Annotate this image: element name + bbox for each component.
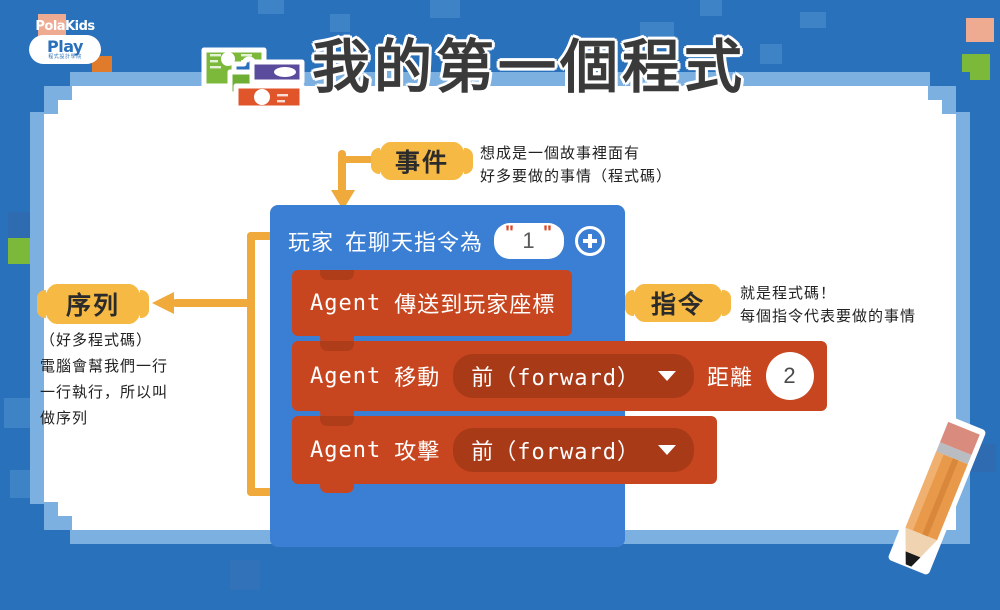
poster-canvas: PolaKids Play 程式設計學院 我的第一個程式 <box>0 0 1000 610</box>
decor-pixel <box>8 212 30 238</box>
command-block-teleport[interactable]: Agent 傳送到玩家座標 <box>292 270 572 336</box>
command-block-attack[interactable]: Agent 攻擊 前（forward） <box>292 416 717 484</box>
direction-dropdown-value: 前（forward） <box>471 434 640 466</box>
decor-pixel <box>800 12 826 28</box>
distance-input[interactable]: 2 <box>766 352 814 400</box>
note-command: 就是程式碼！ 每個指令代表要做的事情 <box>740 282 1000 328</box>
paper-corner-step <box>44 86 58 114</box>
command-actor: Agent <box>310 438 381 463</box>
sequence-arrow-left-icon <box>152 292 174 314</box>
decor-pixel <box>700 0 722 16</box>
decor-pixel <box>258 0 284 14</box>
event-actor: 玩家 <box>288 225 334 257</box>
brand-logo-main: Play <box>47 39 83 54</box>
quote-left: " <box>505 223 515 245</box>
decor-pixel-salmon <box>966 18 994 42</box>
note-sequence: （好多程式碼） 電腦會幫我們一行 一行執行，所以叫 做序列 <box>40 328 270 432</box>
command-action: 攻擊 <box>394 434 440 466</box>
brand-logo-pill: Play 程式設計學院 <box>29 35 101 64</box>
chat-command-value: 1 <box>522 228 535 254</box>
chevron-down-icon <box>658 445 676 455</box>
direction-dropdown-move[interactable]: 前（forward） <box>453 354 694 398</box>
paper-corner-step <box>942 86 956 114</box>
command-action: 移動 <box>394 360 440 392</box>
tag-event: 事件 <box>378 142 466 180</box>
event-block-row: 玩家 在聊天指令為 " 1 " <box>288 223 605 259</box>
chat-command-input[interactable]: " 1 " <box>494 223 564 259</box>
sequence-connector-horizontal <box>172 299 254 307</box>
decor-pixel <box>230 560 260 590</box>
decor-pixel <box>330 14 350 32</box>
event-block-footer <box>270 505 625 547</box>
brand-logo-top: PolaKids <box>22 20 108 34</box>
decor-pixel <box>430 0 460 18</box>
page-title: 我的第一個程式 <box>312 36 746 100</box>
paper-corner-step <box>44 502 58 530</box>
chevron-down-icon <box>658 371 676 381</box>
brand-logo: PolaKids Play 程式設計學院 <box>22 20 108 68</box>
brand-logo-sub: 程式設計學院 <box>48 54 82 60</box>
direction-dropdown-attack[interactable]: 前（forward） <box>453 428 694 472</box>
event-block[interactable]: 玩家 在聊天指令為 " 1 " <box>270 205 625 275</box>
direction-dropdown-value: 前（forward） <box>471 360 640 392</box>
tag-sequence: 序列 <box>44 284 142 324</box>
command-action: 傳送到玩家座標 <box>394 287 555 319</box>
event-label: 在聊天指令為 <box>345 225 483 257</box>
command-block-move[interactable]: Agent 移動 前（forward） 距離 2 <box>292 341 827 411</box>
code-blocks-icon <box>200 42 318 114</box>
command-actor: Agent <box>310 364 381 389</box>
quote-right: " <box>543 223 553 245</box>
decor-pixel <box>760 44 782 64</box>
decor-pixel <box>4 398 30 428</box>
tag-command: 指令 <box>632 284 724 322</box>
note-event: 想成是一個故事裡面有 好多要做的事情（程式碼） <box>480 142 760 188</box>
plus-circle-icon[interactable] <box>575 226 605 256</box>
distance-label: 距離 <box>707 360 753 392</box>
command-actor: Agent <box>310 291 381 316</box>
